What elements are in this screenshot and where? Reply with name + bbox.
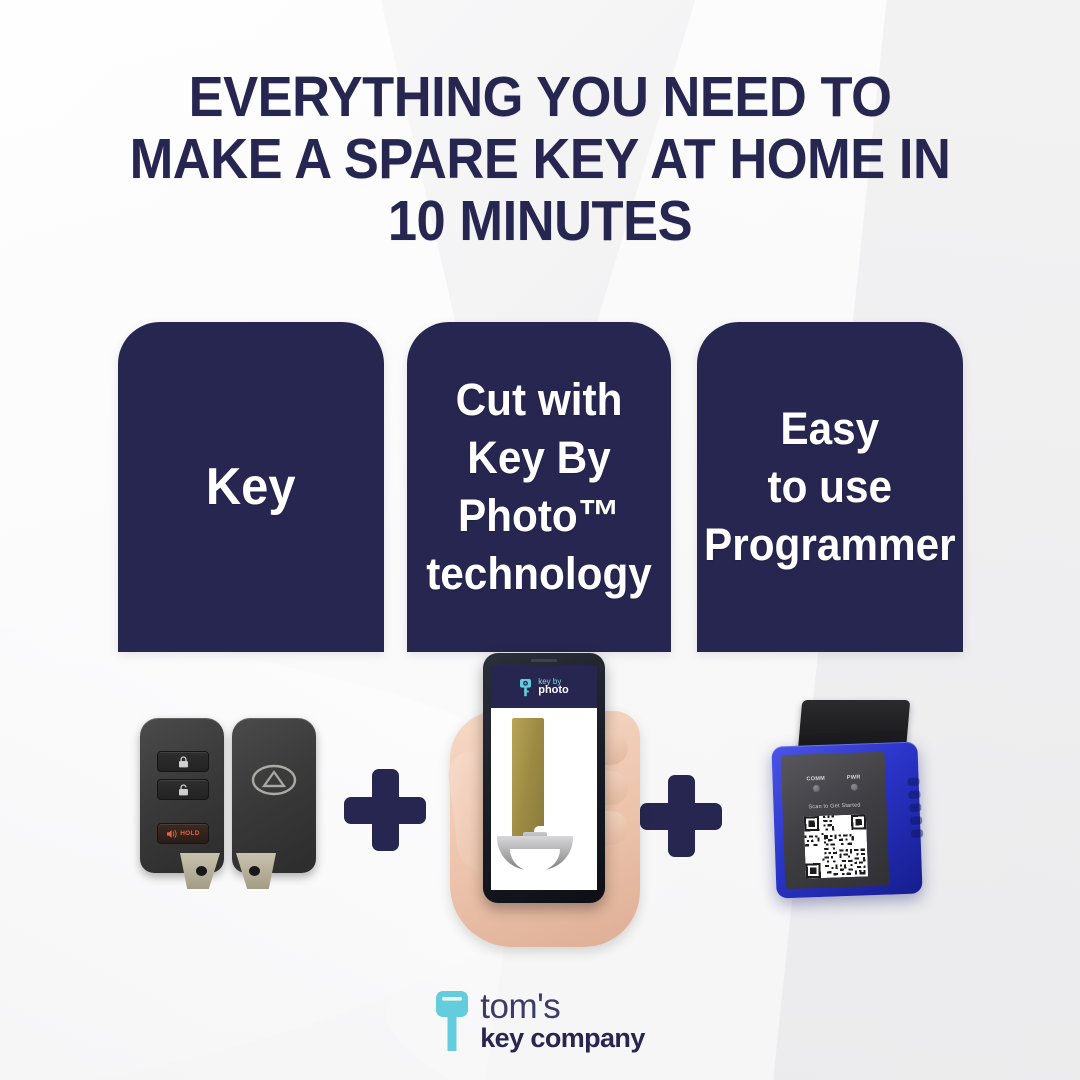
plus-icon — [640, 775, 722, 857]
lexus-logo — [251, 764, 297, 796]
smartphone[interactable]: key by photo — [483, 653, 605, 903]
phone-screen[interactable]: key by photo — [491, 666, 597, 890]
phone-speaker — [531, 659, 557, 662]
key-fob-image: HOLD — [138, 718, 328, 888]
key-blade-photo — [512, 718, 544, 840]
key-icon — [435, 990, 469, 1052]
key-notch — [196, 866, 207, 876]
key-notch — [249, 866, 260, 876]
key-head-photo — [497, 832, 573, 870]
card-line: technology — [426, 545, 652, 603]
key-by-photo-logo: key by photo — [491, 666, 597, 708]
obd-led-row: COMM PWR — [781, 774, 885, 794]
key-fob-front: HOLD — [140, 718, 224, 873]
obd-led-comm: COMM — [806, 776, 825, 793]
plus-icon — [344, 769, 426, 851]
logo-word-bottom: key company — [480, 1025, 644, 1052]
phone-in-hand-image: key by photo — [455, 653, 630, 945]
feature-card-programmer[interactable]: Easy to use Programmer — [697, 322, 963, 652]
key-by-photo-wordmark: key by photo — [538, 678, 569, 696]
card-line: Programmer — [704, 516, 956, 574]
title-line-1: EVERYTHING YOU NEED TO — [95, 66, 986, 128]
feature-card-key-by-photo-label: Cut with Key By Photo™ technology — [426, 371, 652, 603]
obd-programmer-image: COMM PWR Scan to Get Started — [762, 700, 952, 912]
logo-wordmark: tom's key company — [480, 989, 644, 1052]
card-line: Easy — [704, 400, 956, 458]
qr-code — [804, 814, 868, 878]
key-camera-icon — [519, 678, 534, 697]
panic-alarm-icon: HOLD — [157, 823, 209, 844]
obd-led-pwr: PWR — [847, 775, 861, 791]
feature-card-programmer-label: Easy to use Programmer — [704, 400, 956, 574]
feature-card-key-by-photo[interactable]: Cut with Key By Photo™ technology — [407, 322, 671, 652]
obd-faceplate: COMM PWR Scan to Get Started — [781, 752, 890, 890]
feature-card-key[interactable]: Key — [118, 322, 384, 652]
card-line: Key — [206, 458, 296, 516]
card-line: Cut with — [426, 371, 652, 429]
card-line: to use — [704, 458, 956, 516]
panic-hold-label: HOLD — [180, 830, 200, 837]
page-title: EVERYTHING YOU NEED TO MAKE A SPARE KEY … — [43, 66, 1037, 252]
feature-card-key-label: Key — [206, 458, 296, 516]
title-line-3: 10 MINUTES — [95, 190, 986, 252]
title-line-2: MAKE A SPARE KEY AT HOME IN — [95, 128, 986, 190]
obd-housing: COMM PWR Scan to Get Started — [771, 741, 922, 898]
toms-key-company-logo[interactable]: tom's key company — [0, 989, 1080, 1052]
unlock-icon — [157, 779, 209, 800]
key-fob-back — [232, 718, 316, 873]
logo-word-top: tom's — [480, 989, 644, 1024]
card-line: Photo™ — [426, 487, 652, 545]
obd-side-ribs — [907, 777, 924, 854]
obd-scan-label: Scan to Get Started — [782, 802, 886, 812]
card-line: Key By — [426, 429, 652, 487]
lock-icon — [157, 751, 209, 772]
poster-canvas: EVERYTHING YOU NEED TO MAKE A SPARE KEY … — [0, 0, 1080, 1080]
